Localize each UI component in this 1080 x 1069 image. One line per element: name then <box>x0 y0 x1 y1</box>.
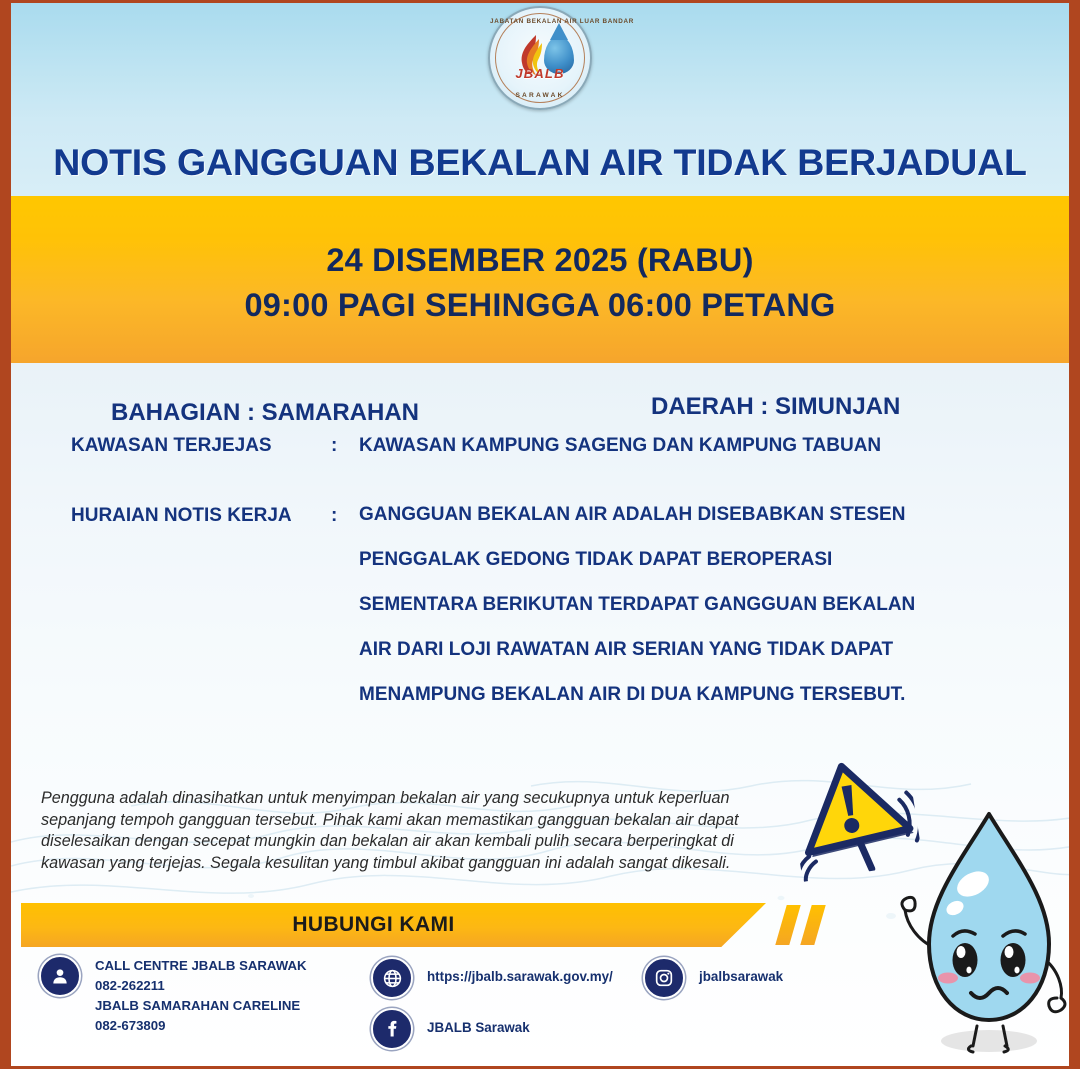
notice-date: 24 DISEMBER 2025 (RABU) <box>326 238 753 283</box>
instagram-icon <box>643 957 685 999</box>
work-description-line: MENAMPUNG BEKALAN AIR DI DUA KAMPUNG TER… <box>359 685 1029 704</box>
call-centre-phone: 082-262211 <box>95 976 307 996</box>
work-description-line: SEMENTARA BERIKUTAN TERDAPAT GANGGUAN BE… <box>359 595 1029 614</box>
contact-heading-banner: HUBUNGI KAMI <box>21 903 766 947</box>
contact-website[interactable]: https://jbalb.sarawak.gov.my/ <box>371 957 613 999</box>
date-time-band: 24 DISEMBER 2025 (RABU) 09:00 PAGI SEHIN… <box>11 196 1069 363</box>
logo-disc: JABATAN BEKALAN AIR LUAR BANDAR JBALB SA… <box>488 6 592 110</box>
affected-area-value: KAWASAN KAMPUNG SAGENG DAN KAMPUNG TABUA… <box>359 435 1009 457</box>
careline-title: JBALB SAMARAHAN CARELINE <box>95 996 307 1016</box>
contact-heading-bar: HUBUNGI KAMI <box>11 903 1069 947</box>
banner-slash-accent <box>800 905 825 945</box>
website-url: https://jbalb.sarawak.gov.my/ <box>427 967 613 987</box>
work-description-line: PENGGALAK GEDONG TIDAK DAPAT BEROPERASI <box>359 550 1029 569</box>
instagram-handle: jbalbsarawak <box>699 967 783 987</box>
affected-area-colon: : <box>331 435 337 457</box>
banner-slash-accent <box>775 905 800 945</box>
contact-heading-label: HUBUNGI KAMI <box>292 913 454 937</box>
district-label: DAERAH : SIMUNJAN <box>651 393 900 421</box>
poster-header: JABATAN BEKALAN AIR LUAR BANDAR JBALB SA… <box>11 3 1069 196</box>
contact-call-centre[interactable]: CALL CENTRE JBALB SARAWAK 082-262211 JBA… <box>39 955 307 1036</box>
advisory-paragraph: Pengguna adalah dinasihatkan untuk menyi… <box>41 788 781 874</box>
facebook-icon <box>371 1008 413 1050</box>
call-centre-title: CALL CENTRE JBALB SARAWAK <box>95 956 307 976</box>
contact-details: CALL CENTRE JBALB SARAWAK 082-262211 JBA… <box>11 953 1069 1063</box>
work-description-line: GANGGUAN BEKALAN AIR ADALAH DISEBABKAN S… <box>359 505 1029 524</box>
region-row: BAHAGIAN : SAMARAHAN DAERAH : SIMUNJAN <box>11 363 1069 399</box>
logo-arc-top-text: JABATAN BEKALAN AIR LUAR BANDAR <box>490 18 590 25</box>
work-description-lines: GANGGUAN BEKALAN AIR ADALAH DISEBABKAN S… <box>359 505 1029 730</box>
jbalb-logo: JABATAN BEKALAN AIR LUAR BANDAR JBALB SA… <box>488 6 592 110</box>
contact-facebook[interactable]: JBALB Sarawak <box>371 1008 530 1050</box>
affected-area-row: KAWASAN TERJEJAS : KAWASAN KAMPUNG SAGEN… <box>11 435 1069 475</box>
notice-time: 09:00 PAGI SEHINGGA 06:00 PETANG <box>245 283 836 328</box>
careline-phone: 082-673809 <box>95 1016 307 1036</box>
work-description-line: AIR DARI LOJI RAWATAN AIR SERIAN YANG TI… <box>359 640 1029 659</box>
facebook-handle: JBALB Sarawak <box>427 1018 530 1038</box>
person-icon <box>39 955 81 997</box>
notice-poster: JABATAN BEKALAN AIR LUAR BANDAR JBALB SA… <box>0 0 1080 1069</box>
logo-acronym: JBALB <box>490 66 590 81</box>
page-title: NOTIS GANGGUAN BEKALAN AIR TIDAK BERJADU… <box>11 141 1069 184</box>
division-label: BAHAGIAN : SAMARAHAN <box>111 399 419 427</box>
globe-icon <box>371 957 413 999</box>
work-description-colon: : <box>331 505 337 527</box>
contact-instagram[interactable]: jbalbsarawak <box>643 957 783 999</box>
work-description-label: HURAIAN NOTIS KERJA <box>71 505 321 527</box>
logo-arc-bottom-text: SARAWAK <box>490 92 590 99</box>
affected-area-label: KAWASAN TERJEJAS <box>71 435 321 457</box>
